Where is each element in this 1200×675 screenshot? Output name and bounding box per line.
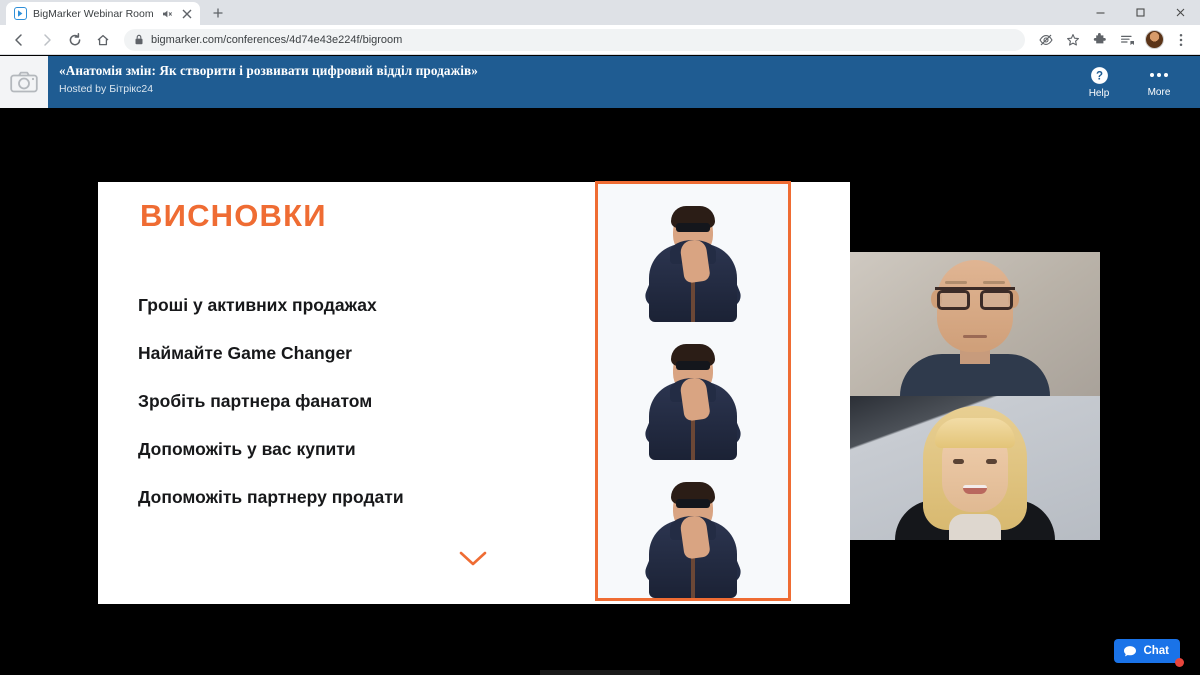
presentation-slide[interactable]: ВИСНОВКИ Гроші у активних продажах Найма… bbox=[98, 182, 850, 604]
maximize-button[interactable] bbox=[1120, 0, 1160, 25]
presenter-video-tile-woman[interactable] bbox=[850, 396, 1100, 540]
webinar-header-bar: «Анатомія змін: Як створити і розвивати … bbox=[0, 56, 1200, 108]
close-icon[interactable] bbox=[180, 7, 194, 21]
tab-strip: BigMarker Webinar Room bbox=[0, 0, 1200, 25]
new-tab-button[interactable] bbox=[205, 2, 231, 24]
bigmarker-favicon bbox=[14, 7, 27, 20]
list-item: Наймайте Game Changer bbox=[138, 343, 598, 364]
speaker-muted-icon[interactable] bbox=[160, 7, 174, 21]
clapping-man-gif bbox=[595, 181, 791, 601]
extensions-puzzle-icon[interactable] bbox=[1087, 27, 1113, 53]
chat-bubble-icon bbox=[1123, 645, 1137, 658]
chat-button[interactable]: Chat bbox=[1114, 639, 1180, 663]
window-controls bbox=[1080, 0, 1200, 25]
gif-frame bbox=[598, 460, 788, 598]
list-item: Гроші у активних продажах bbox=[138, 295, 598, 316]
list-item: Зробіть партнера фанатом bbox=[138, 391, 598, 412]
eye-slash-icon[interactable] bbox=[1033, 27, 1059, 53]
more-dots-icon bbox=[1150, 66, 1168, 84]
camera-icon[interactable] bbox=[0, 56, 48, 108]
address-bar[interactable]: bigmarker.com/conferences/4d74e43e224f/b… bbox=[124, 29, 1025, 51]
forward-arrow-icon bbox=[34, 27, 60, 53]
browser-toolbar: bigmarker.com/conferences/4d74e43e224f/b… bbox=[0, 25, 1200, 55]
webinar-host: Hosted by Бітрікс24 bbox=[59, 83, 1076, 95]
close-window-button[interactable] bbox=[1160, 0, 1200, 25]
presenter-video-tile-man[interactable] bbox=[850, 252, 1100, 396]
home-icon[interactable] bbox=[90, 27, 116, 53]
svg-text:?: ? bbox=[1095, 70, 1102, 82]
slide-bullet-list: Гроші у активних продажах Наймайте Game … bbox=[138, 295, 598, 535]
toolbar-icon-group bbox=[1033, 27, 1194, 53]
presenter-video-panel bbox=[850, 252, 1100, 540]
minimize-button[interactable] bbox=[1080, 0, 1120, 25]
bookmark-star-icon[interactable] bbox=[1060, 27, 1086, 53]
list-item: Допоможіть у вас купити bbox=[138, 439, 598, 460]
help-button[interactable]: ? Help bbox=[1076, 66, 1122, 99]
chevron-down-icon bbox=[458, 550, 488, 573]
page-title: «Анатомія змін: Як створити і розвивати … bbox=[59, 63, 1076, 79]
browser-window: BigMarker Webinar Room bbox=[0, 0, 1200, 675]
gif-frame bbox=[598, 184, 788, 322]
chrome-menu-icon[interactable] bbox=[1168, 27, 1194, 53]
list-item: Допоможіть партнеру продати bbox=[138, 487, 598, 508]
player-control-bar[interactable] bbox=[540, 670, 660, 675]
more-button[interactable]: More bbox=[1136, 66, 1182, 98]
more-label: More bbox=[1148, 87, 1171, 98]
gif-frame bbox=[598, 322, 788, 460]
reading-list-icon[interactable] bbox=[1114, 27, 1140, 53]
webinar-title-block: «Анатомія змін: Як створити і розвивати … bbox=[48, 56, 1076, 108]
header-actions: ? Help More bbox=[1076, 56, 1200, 108]
help-label: Help bbox=[1089, 88, 1110, 99]
chat-label: Chat bbox=[1143, 645, 1169, 657]
profile-avatar[interactable] bbox=[1141, 27, 1167, 53]
tab-title: BigMarker Webinar Room bbox=[33, 8, 154, 20]
webinar-stage: ВИСНОВКИ Гроші у активних продажах Найма… bbox=[0, 108, 1200, 675]
lock-icon bbox=[134, 34, 144, 45]
back-arrow-icon[interactable] bbox=[6, 27, 32, 53]
browser-tab[interactable]: BigMarker Webinar Room bbox=[6, 2, 200, 25]
slide-title: ВИСНОВКИ bbox=[140, 198, 327, 234]
chat-unread-badge bbox=[1175, 658, 1184, 667]
url-text: bigmarker.com/conferences/4d74e43e224f/b… bbox=[151, 34, 402, 46]
reload-icon[interactable] bbox=[62, 27, 88, 53]
